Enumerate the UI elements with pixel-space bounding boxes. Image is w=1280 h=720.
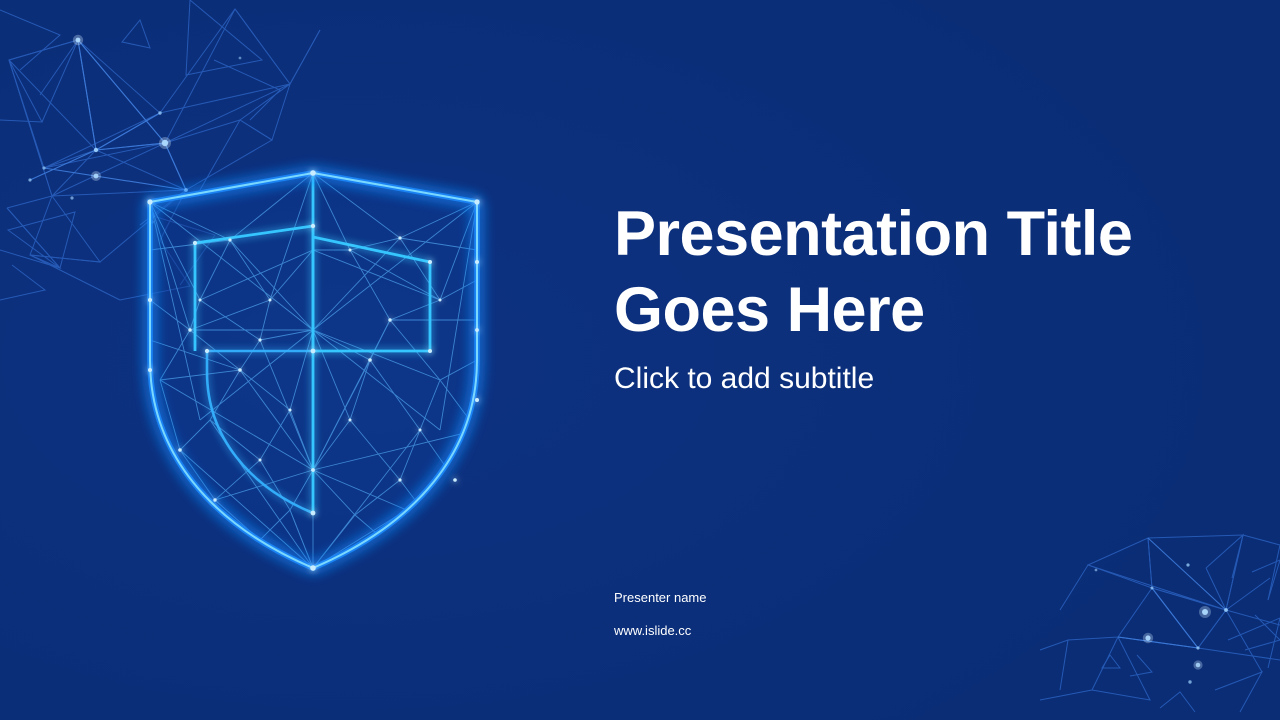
page-title[interactable]: Presentation Title Goes Here (614, 196, 1214, 348)
website-url[interactable]: www.islide.cc (614, 623, 707, 640)
title-text-block: Presentation Title Goes Here Click to ad… (614, 196, 1214, 397)
presentation-slide: Presentation Title Goes Here Click to ad… (0, 0, 1280, 720)
subtitle-placeholder[interactable]: Click to add subtitle (614, 361, 1214, 397)
footer: Presenter name www.islide.cc (614, 590, 707, 639)
presenter-name[interactable]: Presenter name (614, 590, 707, 607)
